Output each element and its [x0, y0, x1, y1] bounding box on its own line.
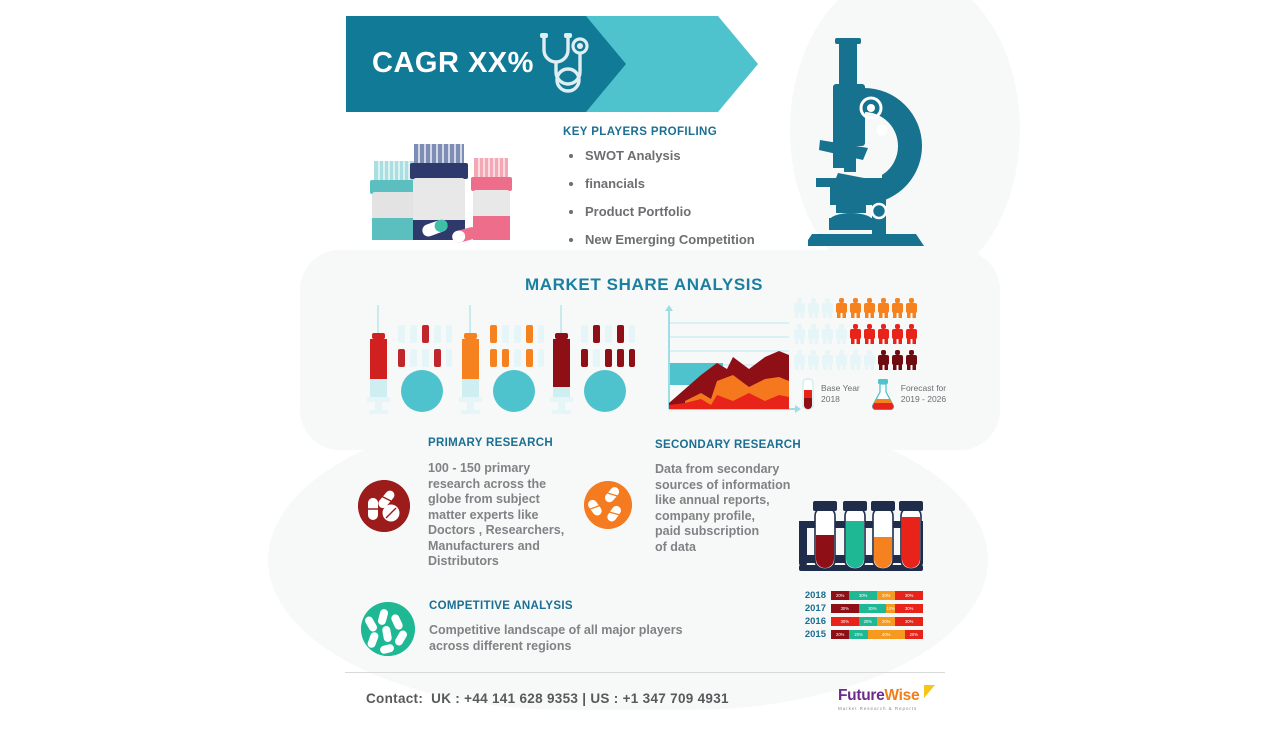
- yearly-share-table: 2018 20% 30% 20% 30% 2017 30% 30% 10% 30…: [800, 590, 923, 642]
- bar-segment: 30%: [895, 591, 923, 600]
- list-item: financials: [563, 176, 813, 191]
- contact-line: Contact:UK : +44 141 628 9353 | US : +1 …: [366, 691, 729, 706]
- list-item-label: financials: [585, 176, 645, 191]
- primary-research-title: PRIMARY RESEARCH: [428, 437, 553, 449]
- logo-text-wise: Wise: [884, 687, 919, 704]
- contact-value: UK : +44 141 628 9353 | US : +1 347 709 …: [431, 691, 729, 706]
- bar-segment: 20%: [905, 630, 923, 639]
- bullet-icon: [569, 154, 573, 158]
- pills-icon: [358, 480, 410, 532]
- test-tube-rack-illustration: [797, 495, 927, 580]
- market-share-title: MARKET SHARE ANALYSIS: [525, 275, 763, 295]
- key-players-title: KEY PLAYERS PROFILING: [563, 126, 813, 138]
- list-item: Product Portfolio: [563, 204, 813, 219]
- primary-research-body: 100 - 150 primary research across the gl…: [428, 461, 588, 570]
- legend-base-year-text: Base Year 2018: [821, 383, 860, 404]
- microscope-icon: [808, 18, 963, 263]
- syringe-group-3: [543, 305, 635, 415]
- logo-tagline: Market Research & Reports: [838, 706, 919, 711]
- key-players-list: SWOT Analysis financials Product Portfol…: [563, 148, 813, 247]
- legend-line-1: Base Year: [821, 383, 860, 394]
- pill-bottles-illustration: [352, 136, 512, 256]
- capsules-icon: [361, 602, 415, 656]
- year-label: 2018: [800, 590, 826, 601]
- bar-segment: 20%: [849, 630, 867, 639]
- test-tube-icon: [800, 378, 816, 410]
- logo-flag-icon: [924, 685, 935, 698]
- bar-segment: 30%: [849, 591, 877, 600]
- legend-item-forecast: Forecast for 2019 - 2026: [870, 378, 946, 410]
- year-label: 2017: [800, 603, 826, 614]
- bar-segment: 30%: [859, 604, 887, 613]
- logo-wordmark: FutureWise: [838, 688, 919, 704]
- bar-segment: 20%: [831, 630, 849, 639]
- legend-item-base-year: Base Year 2018: [800, 378, 860, 410]
- list-item-label: SWOT Analysis: [585, 148, 681, 163]
- list-item-label: Product Portfolio: [585, 204, 691, 219]
- key-players-block: KEY PLAYERS PROFILING SWOT Analysis fina…: [563, 126, 813, 260]
- cagr-banner: CAGR XX%: [346, 16, 758, 112]
- competitive-analysis-title: COMPETITIVE ANALYSIS: [429, 600, 573, 612]
- legend-line-1: Forecast for: [901, 383, 946, 394]
- infographic-stage: CAGR XX%: [0, 0, 1280, 731]
- bar-segment: 20%: [877, 591, 895, 600]
- market-share-legend: Base Year 2018 Forecast for 2019 - 2026: [800, 378, 946, 410]
- year-label: 2016: [800, 616, 826, 627]
- year-bar: 20% 20% 40% 20%: [831, 630, 923, 639]
- year-bar: 30% 30% 10% 30%: [831, 604, 923, 613]
- cagr-headline: CAGR XX%: [372, 47, 534, 80]
- people-pictogram-grid: [794, 298, 919, 370]
- secondary-research-title: SECONDARY RESEARCH: [655, 439, 801, 451]
- table-row: 2018 20% 30% 20% 30%: [800, 590, 923, 601]
- pills-icon: [584, 481, 632, 529]
- market-share-area-chart: [655, 305, 805, 417]
- footer-divider: [345, 672, 945, 673]
- bullet-icon: [569, 238, 573, 242]
- bar-segment: 20%: [859, 617, 877, 626]
- bar-segment: 30%: [831, 604, 859, 613]
- legend-line-2: 2018: [821, 394, 860, 405]
- legend-forecast-text: Forecast for 2019 - 2026: [901, 383, 946, 404]
- list-item-label: New Emerging Competition: [585, 232, 755, 247]
- list-item: SWOT Analysis: [563, 148, 813, 163]
- competitive-analysis-body: Competitive landscape of all major playe…: [429, 623, 719, 654]
- bar-segment: 20%: [831, 591, 849, 600]
- bullet-icon: [569, 210, 573, 214]
- table-row: 2015 20% 20% 40% 20%: [800, 629, 923, 640]
- bar-segment: 10%: [886, 604, 895, 613]
- list-item: New Emerging Competition: [563, 232, 813, 247]
- logo-text-future: Future: [838, 687, 884, 704]
- year-bar: 30% 20% 20% 30%: [831, 617, 923, 626]
- stethoscope-icon: [534, 30, 604, 100]
- table-row: 2016 30% 20% 20% 30%: [800, 616, 923, 627]
- bar-segment: 30%: [831, 617, 859, 626]
- bar-segment: 30%: [895, 604, 923, 613]
- bar-segment: 40%: [868, 630, 905, 639]
- year-bar: 20% 30% 20% 30%: [831, 591, 923, 600]
- secondary-research-body: Data from secondary sources of informati…: [655, 462, 805, 555]
- bar-segment: 30%: [895, 617, 923, 626]
- syringe-group-1: [360, 305, 452, 415]
- table-row: 2017 30% 30% 10% 30%: [800, 603, 923, 614]
- contact-label: Contact:: [366, 691, 423, 706]
- futurewise-logo[interactable]: FutureWise Market Research & Reports: [838, 688, 919, 711]
- flask-icon: [870, 378, 896, 410]
- bar-segment: 20%: [877, 617, 895, 626]
- syringe-group-2: [452, 305, 544, 415]
- legend-line-2: 2019 - 2026: [901, 394, 946, 405]
- bullet-icon: [569, 182, 573, 186]
- year-label: 2015: [800, 629, 826, 640]
